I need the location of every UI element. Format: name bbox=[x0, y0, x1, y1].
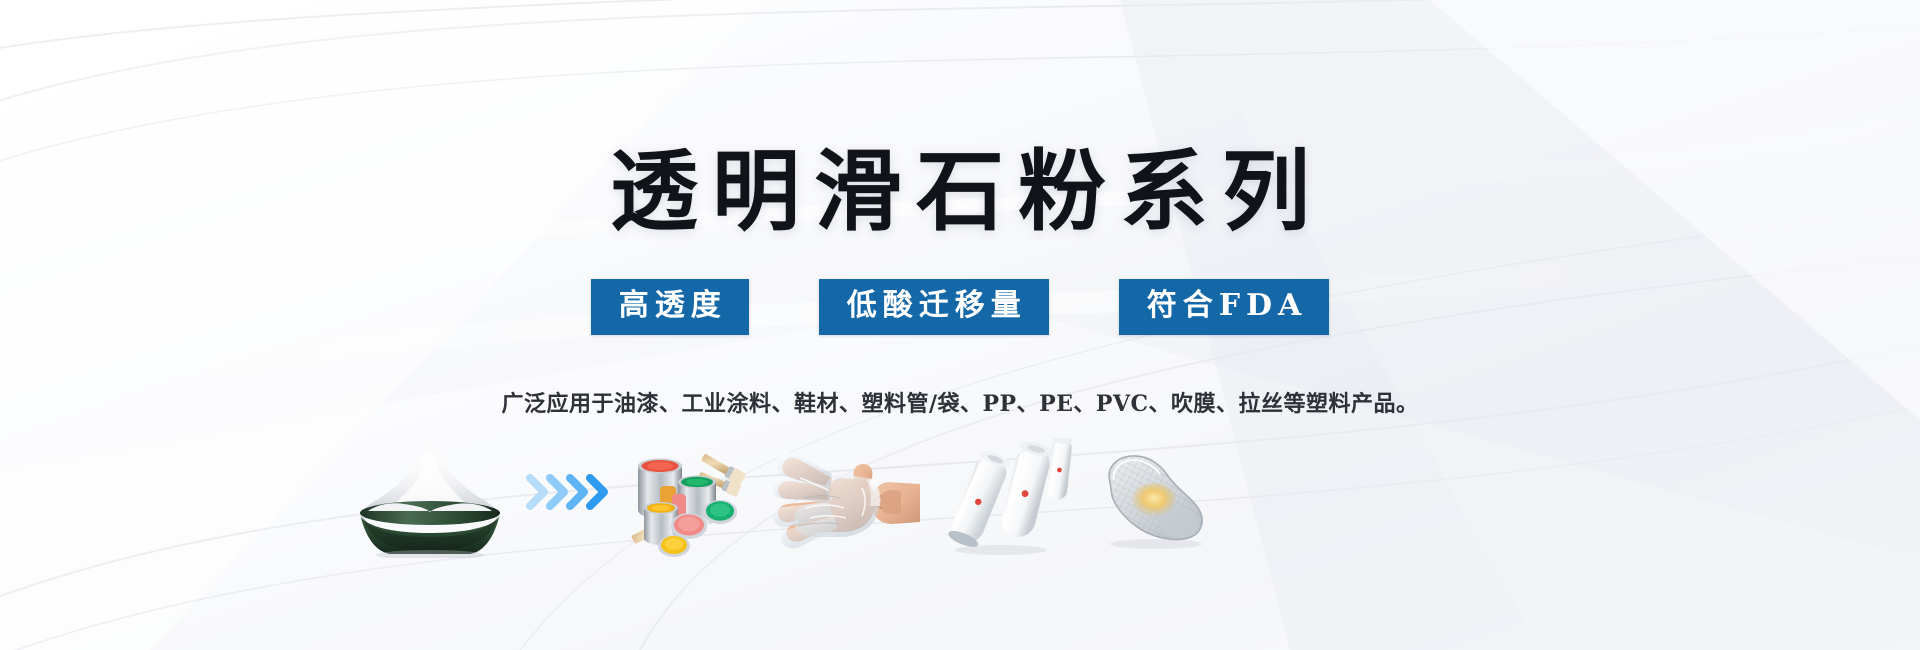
paint-cans-image bbox=[626, 438, 756, 558]
badge-high-transparency[interactable]: 高透度 bbox=[591, 279, 749, 335]
page-title: 透明滑石粉系列 bbox=[0, 147, 1920, 235]
badge-low-acid-migration[interactable]: 低酸迁移量 bbox=[819, 279, 1049, 335]
feature-badge-group: 高透度 低酸迁移量 符合FDA bbox=[0, 279, 1920, 335]
shoe-insole-image bbox=[1082, 438, 1212, 558]
plastic-glove-image bbox=[770, 438, 920, 558]
product-banner: 透明滑石粉系列 高透度 低酸迁移量 符合FDA 广泛应用于油漆、工业涂料、鞋材、… bbox=[0, 0, 1920, 650]
arrow-chevrons-icon bbox=[524, 464, 614, 520]
badge-fda-compliant[interactable]: 符合FDA bbox=[1119, 279, 1330, 335]
plastic-film-rolls-image bbox=[935, 438, 1075, 558]
talc-powder-bowl-image bbox=[330, 438, 530, 558]
application-description: 广泛应用于油漆、工业涂料、鞋材、塑料管/袋、PP、PE、PVC、吹膜、拉丝等塑料… bbox=[0, 390, 1920, 419]
product-application-strip bbox=[0, 438, 1920, 558]
